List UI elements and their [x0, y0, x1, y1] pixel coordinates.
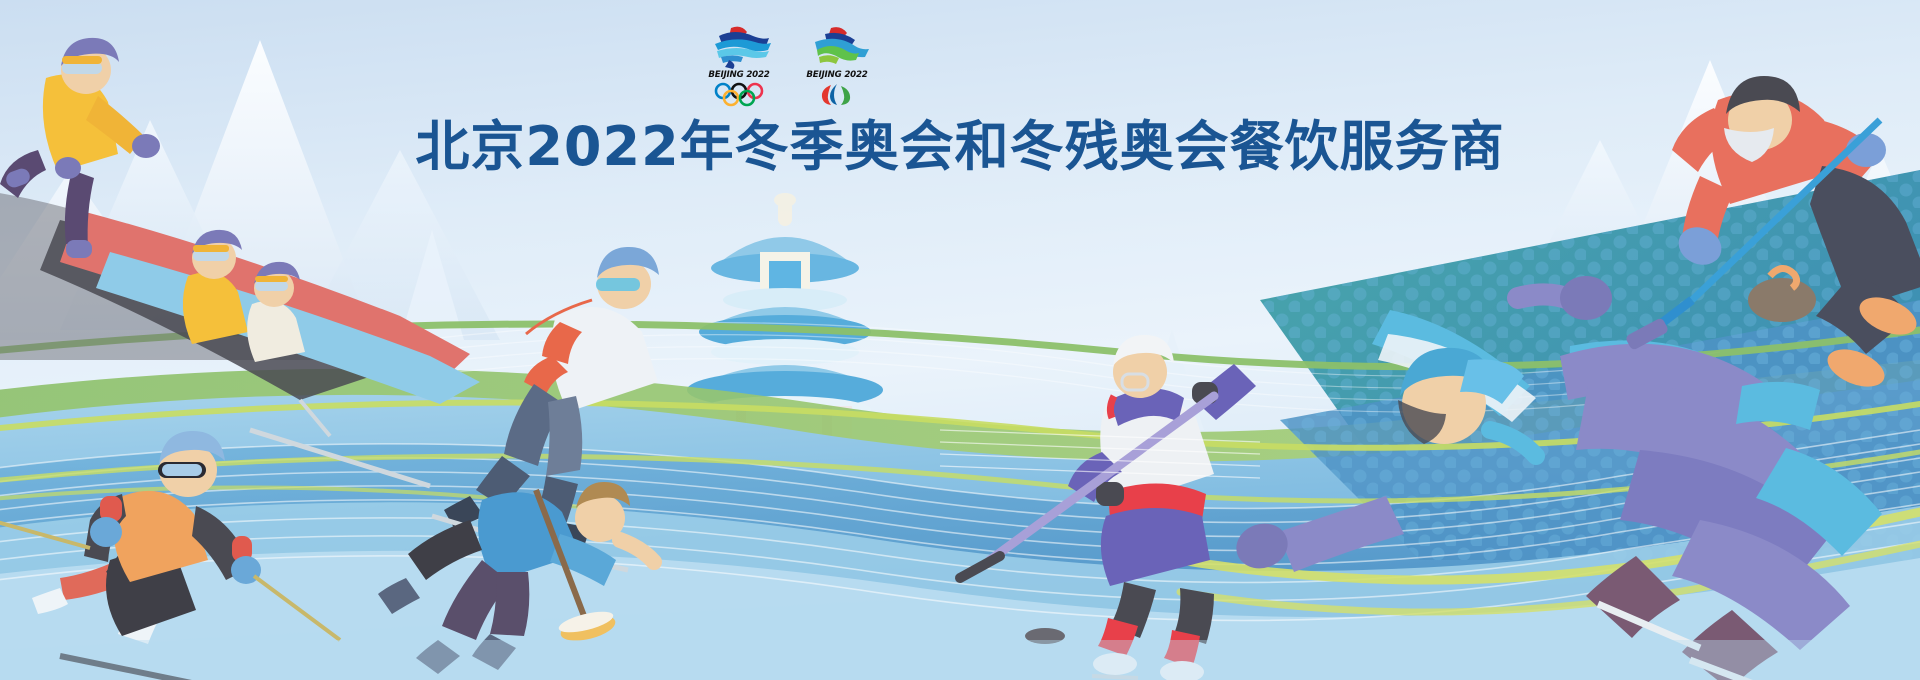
scene-illustration	[0, 0, 1920, 680]
beijing-2022-olympic-emblem: BEIJING 2022	[703, 24, 775, 116]
olympic-rings-icon	[703, 81, 775, 107]
flight-icon	[801, 24, 873, 70]
paralympic-wordmark: BEIJING 2022	[800, 70, 873, 80]
beijing-2022-paralympic-emblem: BEIJING 2022	[801, 24, 873, 116]
emblem-group: BEIJING 2022 BEIJING 2022	[703, 24, 873, 116]
winter-dream-icon	[703, 24, 775, 70]
page-title: 北京2022年冬季奥会和冬残奥会餐饮服务商	[0, 119, 1920, 176]
agitos-icon	[801, 81, 873, 107]
olympic-banner: BEIJING 2022 BEIJING 2022	[0, 0, 1920, 680]
olympic-wordmark: BEIJING 2022	[702, 70, 775, 80]
